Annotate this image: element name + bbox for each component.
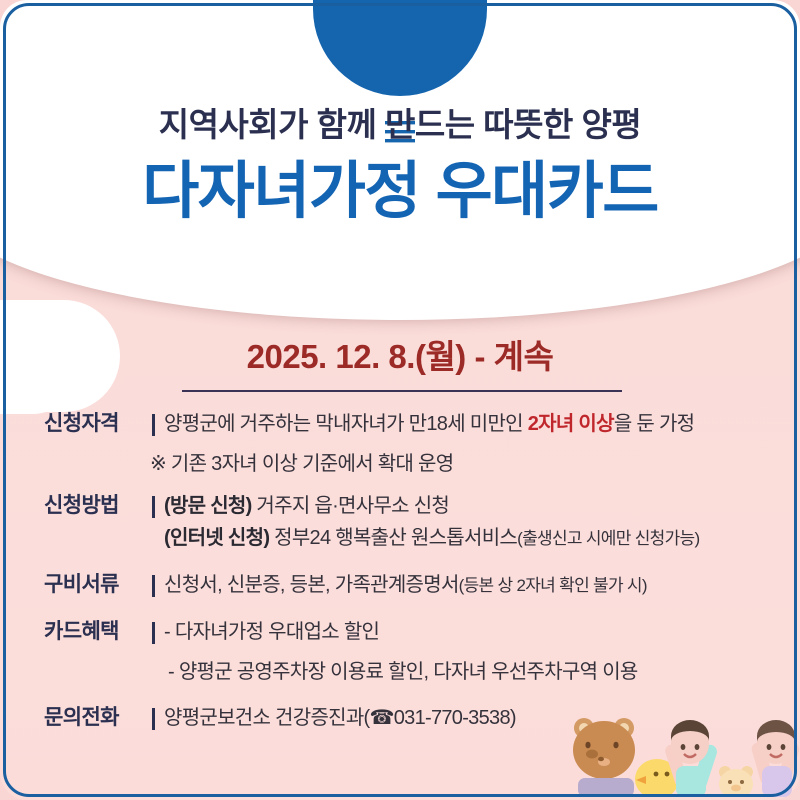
row-body: 신청서, 신분증, 등본, 가족관계증명서(등본 상 2자녀 확인 불가 시) bbox=[164, 569, 774, 602]
row-separator-bar bbox=[152, 575, 155, 597]
row-separator-bar bbox=[152, 496, 155, 518]
documents-text: 신청서, 신분증, 등본, 가족관계증명서 bbox=[164, 574, 459, 596]
row-body: 양평군보건소 건강증진과(☎031-770-3538) bbox=[164, 702, 774, 734]
line-text-post: 을 둔 가정 bbox=[614, 413, 695, 435]
row-label: 카드혜택 bbox=[44, 616, 150, 648]
row-separator-bar bbox=[152, 622, 155, 644]
line-text-pre: 양평군에 거주하는 막내자녀가 만18세 미만인 bbox=[164, 413, 528, 435]
row-label: 신청방법 bbox=[44, 490, 150, 522]
row-label: 문의전화 bbox=[44, 702, 150, 734]
row-label: 신청자격 bbox=[44, 408, 150, 440]
info-list: 신청자격 양평군에 거주하는 막내자녀가 만18세 미만인 2자녀 이상을 둔 … bbox=[0, 408, 800, 742]
method-online-text: 정부24 행복출산 원스톱서비스 bbox=[269, 527, 517, 549]
date-range: 2025. 12. 8.(월) - 계속 bbox=[0, 330, 800, 378]
row-line: 신청서, 신분증, 등본, 가족관계증명서(등본 상 2자녀 확인 불가 시) bbox=[164, 569, 774, 602]
divider bbox=[182, 390, 622, 392]
info-row-documents: 구비서류 신청서, 신분증, 등본, 가족관계증명서(등본 상 2자녀 확인 불… bbox=[0, 569, 800, 602]
method-visit-label: (방문 신청) bbox=[164, 495, 252, 517]
method-visit-text: 거주지 읍·면사무소 신청 bbox=[252, 495, 450, 517]
highlight-text: 2자녀 이상 bbox=[528, 413, 614, 435]
row-label: 구비서류 bbox=[44, 569, 150, 601]
card-benefit-secondary: - 양평군 공영주차장 이용료 할인, 다자녀 우선주차구역 이용 bbox=[0, 656, 800, 688]
row-body: (방문 신청) 거주지 읍·면사무소 신청 (인터넷 신청) 정부24 행복출산… bbox=[164, 490, 774, 555]
documents-paren: (등본 상 2자녀 확인 불가 시) bbox=[459, 576, 647, 595]
row-line: 양평군에 거주하는 막내자녀가 만18세 미만인 2자녀 이상을 둔 가정 bbox=[164, 408, 774, 440]
qualification-note: ※ 기존 3자녀 이상 기준에서 확대 운영 bbox=[0, 448, 800, 480]
info-row-contact: 문의전화 양평군보건소 건강증진과(☎031-770-3538) bbox=[0, 702, 800, 734]
method-online-paren: (출생신고 시에만 신청가능) bbox=[517, 529, 699, 548]
row-body: 양평군에 거주하는 막내자녀가 만18세 미만인 2자녀 이상을 둔 가정 bbox=[164, 408, 774, 440]
info-row-qualification: 신청자격 양평군에 거주하는 막내자녀가 만18세 미만인 2자녀 이상을 둔 … bbox=[0, 408, 800, 440]
row-body: - 다자녀가정 우대업소 할인 bbox=[164, 616, 774, 648]
row-line: - 다자녀가정 우대업소 할인 bbox=[164, 616, 774, 648]
method-online-label: (인터넷 신청) bbox=[164, 527, 269, 549]
row-line: (인터넷 신청) 정부24 행복출산 원스톱서비스(출생신고 시에만 신청가능) bbox=[164, 522, 774, 555]
row-line: (방문 신청) 거주지 읍·면사무소 신청 bbox=[164, 490, 774, 522]
poster-subtitle: 지역사회가 함께 만드는 따뜻한 양평 bbox=[0, 105, 800, 145]
page-title: 다자녀가정 우대카드 bbox=[0, 157, 800, 226]
info-row-application-method: 신청방법 (방문 신청) 거주지 읍·면사무소 신청 (인터넷 신청) 정부24… bbox=[0, 490, 800, 555]
row-separator-bar bbox=[152, 414, 155, 436]
info-row-card-benefits: 카드혜택 - 다자녀가정 우대업소 할인 bbox=[0, 616, 800, 648]
poster-root: 지역사회가 함께 만드는 따뜻한 양평 다자녀가정 우대카드 2025. 12.… bbox=[0, 0, 800, 800]
row-separator-bar bbox=[152, 708, 155, 730]
contact-text: 양평군보건소 건강증진과(☎031-770-3538) bbox=[164, 702, 774, 734]
headline-block: 지역사회가 함께 만드는 따뜻한 양평 다자녀가정 우대카드 bbox=[0, 105, 800, 226]
